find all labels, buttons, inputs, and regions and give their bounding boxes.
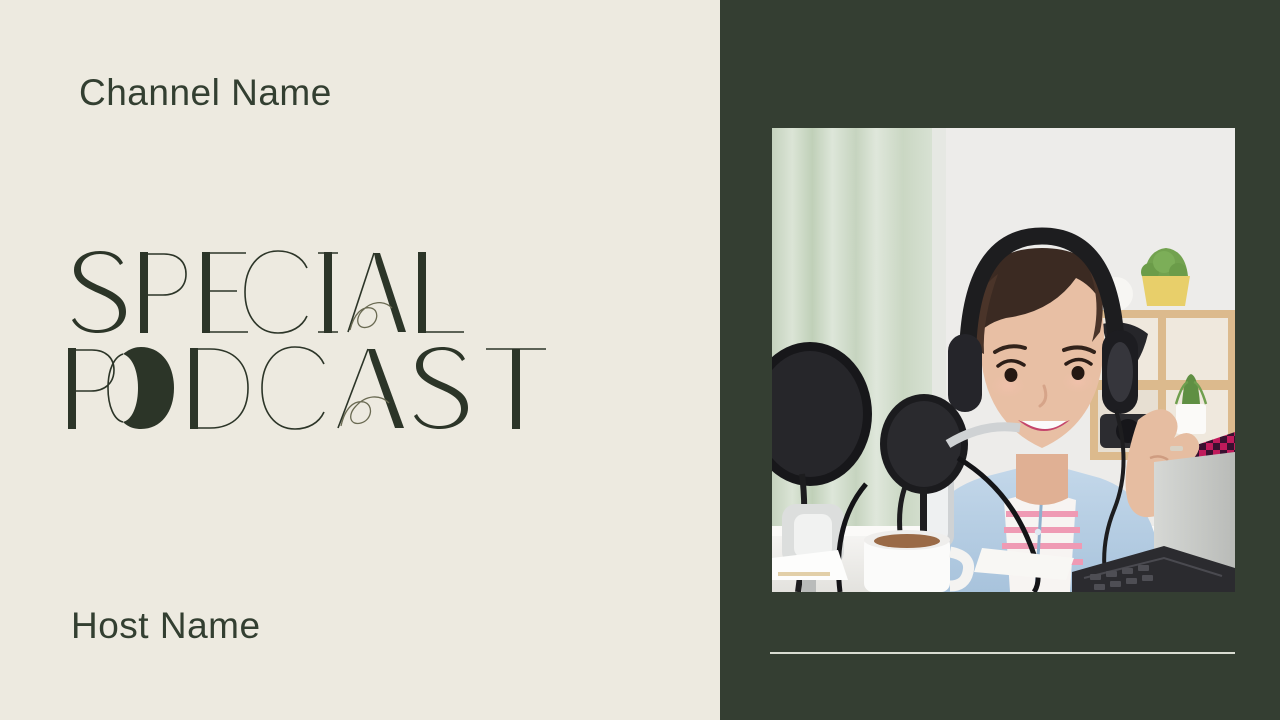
left-cream-panel: Channel Name .ser-thick { fill: #2c3528;… xyxy=(0,0,720,720)
host-photo xyxy=(772,128,1235,592)
podcast-cover-slide: Channel Name .ser-thick { fill: #2c3528;… xyxy=(0,0,1280,720)
host-photo-illustration xyxy=(772,128,1235,592)
host-name-label: Host Name xyxy=(71,605,261,647)
title-line-2-glyphs xyxy=(68,347,546,429)
accent-divider-rule xyxy=(770,652,1235,654)
channel-name-label: Channel Name xyxy=(79,72,332,114)
page-title: .ser-thick { fill: #2c3528; } .ser-thin … xyxy=(62,248,622,433)
right-dark-panel xyxy=(720,0,1280,720)
special-podcast-title-art: .ser-thick { fill: #2c3528; } .ser-thin … xyxy=(62,248,562,433)
title-line-1-glyphs xyxy=(72,251,464,333)
